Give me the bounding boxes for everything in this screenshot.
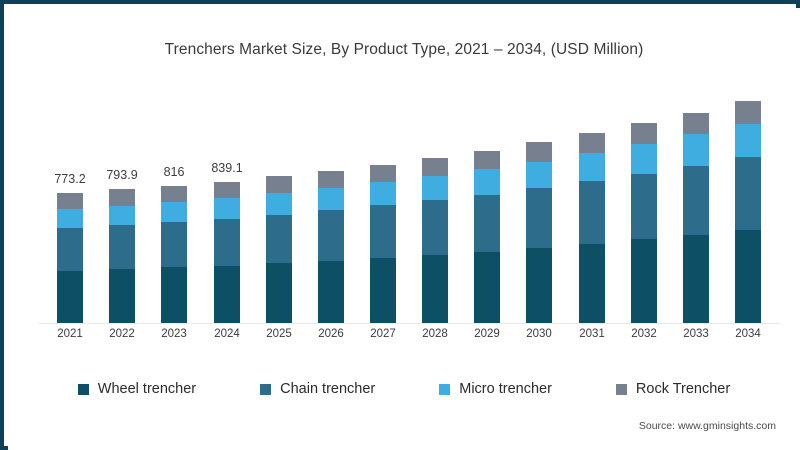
legend-swatch-icon [439, 384, 450, 395]
chart-title: Trenchers Market Size, By Product Type, … [8, 41, 800, 59]
x-tick-2021: 2021 [40, 328, 100, 340]
bar-segment-chain-trencher [683, 166, 709, 235]
legend-label: Chain trencher [280, 381, 375, 397]
bar-segment-wheel-trencher [422, 255, 448, 323]
bar-segment-micro-trencher [266, 193, 292, 214]
x-tick-2034: 2034 [718, 328, 778, 340]
legend-item-rock-trencher[interactable]: Rock Trencher [616, 381, 730, 397]
bar-segment-chain-trencher [526, 188, 552, 248]
bar-segment-rock-trencher [526, 142, 552, 161]
bar-segment-rock-trencher [318, 171, 344, 188]
bar-segment-chain-trencher [422, 200, 448, 255]
bar-segment-micro-trencher [735, 124, 761, 157]
bar-segment-rock-trencher [683, 113, 709, 135]
x-tick-2027: 2027 [353, 328, 413, 340]
x-tick-2032: 2032 [614, 328, 674, 340]
bar-column [579, 104, 605, 323]
x-tick-2024: 2024 [197, 328, 257, 340]
bar-segment-micro-trencher [631, 144, 657, 174]
bar-column: 793.9 [109, 104, 135, 323]
bar-segment-wheel-trencher [631, 239, 657, 323]
stacked-bar [318, 171, 344, 323]
bar-column [526, 104, 552, 323]
stacked-bar [266, 176, 292, 323]
bar-segment-chain-trencher [109, 225, 135, 269]
bar-column [735, 104, 761, 323]
x-tick-2025: 2025 [249, 328, 309, 340]
bar-segment-rock-trencher [214, 182, 240, 199]
bar-column [370, 104, 396, 323]
bar-segment-wheel-trencher [735, 230, 761, 323]
bar-segment-wheel-trencher [161, 267, 187, 323]
bar-segment-chain-trencher [318, 210, 344, 260]
bar-segment-wheel-trencher [266, 263, 292, 323]
bar-column: 773.2 [57, 104, 83, 323]
bar-segment-chain-trencher [735, 157, 761, 230]
bar-column [318, 104, 344, 323]
bar-column: 839.1 [214, 104, 240, 323]
x-tick-2026: 2026 [301, 328, 361, 340]
bar-segment-chain-trencher [474, 195, 500, 252]
bar-segment-rock-trencher [422, 158, 448, 176]
bar-segment-micro-trencher [214, 198, 240, 218]
bar-column [266, 104, 292, 323]
legend-swatch-icon [260, 384, 271, 395]
legend-item-micro-trencher[interactable]: Micro trencher [439, 381, 552, 397]
bar-segment-rock-trencher [370, 165, 396, 183]
bar-segment-micro-trencher [422, 176, 448, 200]
bar-column: 816 [161, 104, 187, 323]
bar-column [474, 104, 500, 323]
x-tick-2030: 2030 [509, 328, 569, 340]
plot-area: 773.2793.9816839.1 [44, 104, 774, 323]
bar-column [422, 104, 448, 323]
bar-segment-rock-trencher [57, 193, 83, 210]
legend-item-wheel-trencher[interactable]: Wheel trencher [78, 381, 196, 397]
chart-canvas: Trenchers Market Size, By Product Type, … [8, 8, 800, 450]
stacked-bar [631, 123, 657, 323]
bar-segment-rock-trencher [631, 123, 657, 144]
bar-segment-wheel-trencher [370, 258, 396, 323]
bar-segment-chain-trencher [214, 219, 240, 266]
bar-segment-rock-trencher [161, 186, 187, 203]
bar-segment-micro-trencher [57, 209, 83, 228]
x-tick-2031: 2031 [562, 328, 622, 340]
bar-segment-chain-trencher [266, 215, 292, 264]
bar-segment-chain-trencher [57, 228, 83, 271]
bar-segment-wheel-trencher [214, 266, 240, 323]
bar-column [683, 104, 709, 323]
bar-segment-micro-trencher [318, 188, 344, 210]
stacked-bar [735, 101, 761, 323]
bar-segment-micro-trencher [683, 134, 709, 165]
bar-segment-wheel-trencher [579, 244, 605, 323]
legend-label: Micro trencher [459, 381, 552, 397]
legend-swatch-icon [616, 384, 627, 395]
stacked-bar [474, 151, 500, 323]
bar-segment-micro-trencher [526, 162, 552, 189]
legend-label: Rock Trencher [636, 381, 730, 397]
bar-segment-wheel-trencher [474, 252, 500, 323]
bar-segment-rock-trencher [474, 151, 500, 170]
bar-segment-rock-trencher [109, 189, 135, 206]
bar-segment-chain-trencher [370, 205, 396, 257]
bar-segment-wheel-trencher [683, 235, 709, 323]
stacked-bar [370, 165, 396, 323]
stacked-bar [526, 142, 552, 323]
bar-segment-rock-trencher [579, 133, 605, 153]
stacked-bar [214, 182, 240, 323]
stacked-bar [109, 189, 135, 323]
x-tick-2022: 2022 [92, 328, 152, 340]
bar-segment-rock-trencher [266, 176, 292, 193]
legend-item-chain-trencher[interactable]: Chain trencher [260, 381, 375, 397]
stacked-bar [57, 193, 83, 323]
x-tick-2028: 2028 [405, 328, 465, 340]
stacked-bar [579, 133, 605, 323]
stacked-bar [683, 113, 709, 323]
bar-value-label: 839.1 [192, 161, 262, 175]
x-tick-2023: 2023 [144, 328, 204, 340]
bar-segment-micro-trencher [109, 206, 135, 225]
bar-column [631, 104, 657, 323]
x-axis-line [38, 323, 780, 324]
bar-segment-micro-trencher [474, 169, 500, 194]
stacked-bar [422, 158, 448, 323]
legend-label: Wheel trencher [98, 381, 196, 397]
source-attribution: Source: www.gminsights.com [639, 420, 776, 432]
legend-swatch-icon [78, 384, 89, 395]
bar-segment-chain-trencher [631, 174, 657, 240]
x-axis-tick-labels: 2021202220232024202520262027202820292030… [44, 328, 774, 346]
bar-segment-micro-trencher [161, 202, 187, 222]
bar-segment-micro-trencher [579, 153, 605, 181]
bar-segment-micro-trencher [370, 182, 396, 205]
bar-segment-wheel-trencher [318, 261, 344, 323]
bar-segment-wheel-trencher [57, 271, 83, 323]
x-tick-2033: 2033 [666, 328, 726, 340]
chart-frame: Trenchers Market Size, By Product Type, … [0, 0, 800, 450]
chart-legend: Wheel trencherChain trencherMicro trench… [8, 376, 800, 402]
stacked-bar [161, 186, 187, 323]
bar-segment-wheel-trencher [109, 269, 135, 323]
x-tick-2029: 2029 [457, 328, 517, 340]
bar-segment-wheel-trencher [526, 248, 552, 323]
bar-segment-chain-trencher [161, 222, 187, 267]
bar-segment-chain-trencher [579, 181, 605, 243]
bar-segment-rock-trencher [735, 101, 761, 124]
